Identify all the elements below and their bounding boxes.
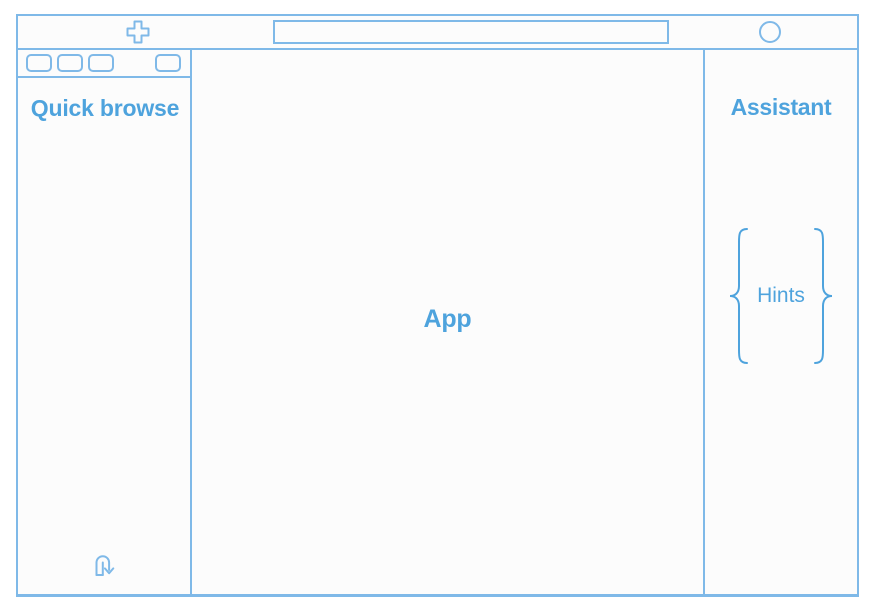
sidebar-title: Quick browse: [18, 94, 192, 123]
app-label: App: [424, 305, 472, 334]
body-area: Quick browse App Assistant: [16, 50, 859, 597]
undo-button[interactable]: [18, 550, 192, 580]
brace-right-icon: [811, 226, 835, 366]
sidebar-tab-2[interactable]: [57, 54, 83, 72]
assistant-title: Assistant: [705, 94, 857, 121]
account-button[interactable]: [683, 16, 857, 48]
search-input[interactable]: [273, 20, 669, 44]
search-field-wrapper: [258, 16, 683, 48]
sidebar-tab-1[interactable]: [26, 54, 52, 72]
plus-icon: [125, 19, 151, 45]
brace-left-icon: [727, 226, 751, 366]
sidebar-tabstrip: [18, 50, 192, 78]
sidebar-tab-new[interactable]: [155, 54, 181, 72]
add-button[interactable]: [18, 16, 258, 48]
u-turn-arrow-icon: [91, 550, 119, 580]
header-bar: [16, 14, 859, 50]
assistant-panel: Assistant Hints: [705, 50, 857, 594]
hints-group: Hints: [705, 222, 857, 370]
circle-avatar-icon: [759, 21, 781, 43]
sidebar-tab-3[interactable]: [88, 54, 114, 72]
sidebar-panel: Quick browse: [18, 50, 192, 594]
hints-label: Hints: [757, 284, 805, 308]
wireframe-window: Quick browse App Assistant: [16, 14, 859, 597]
app-panel[interactable]: App: [192, 50, 705, 594]
